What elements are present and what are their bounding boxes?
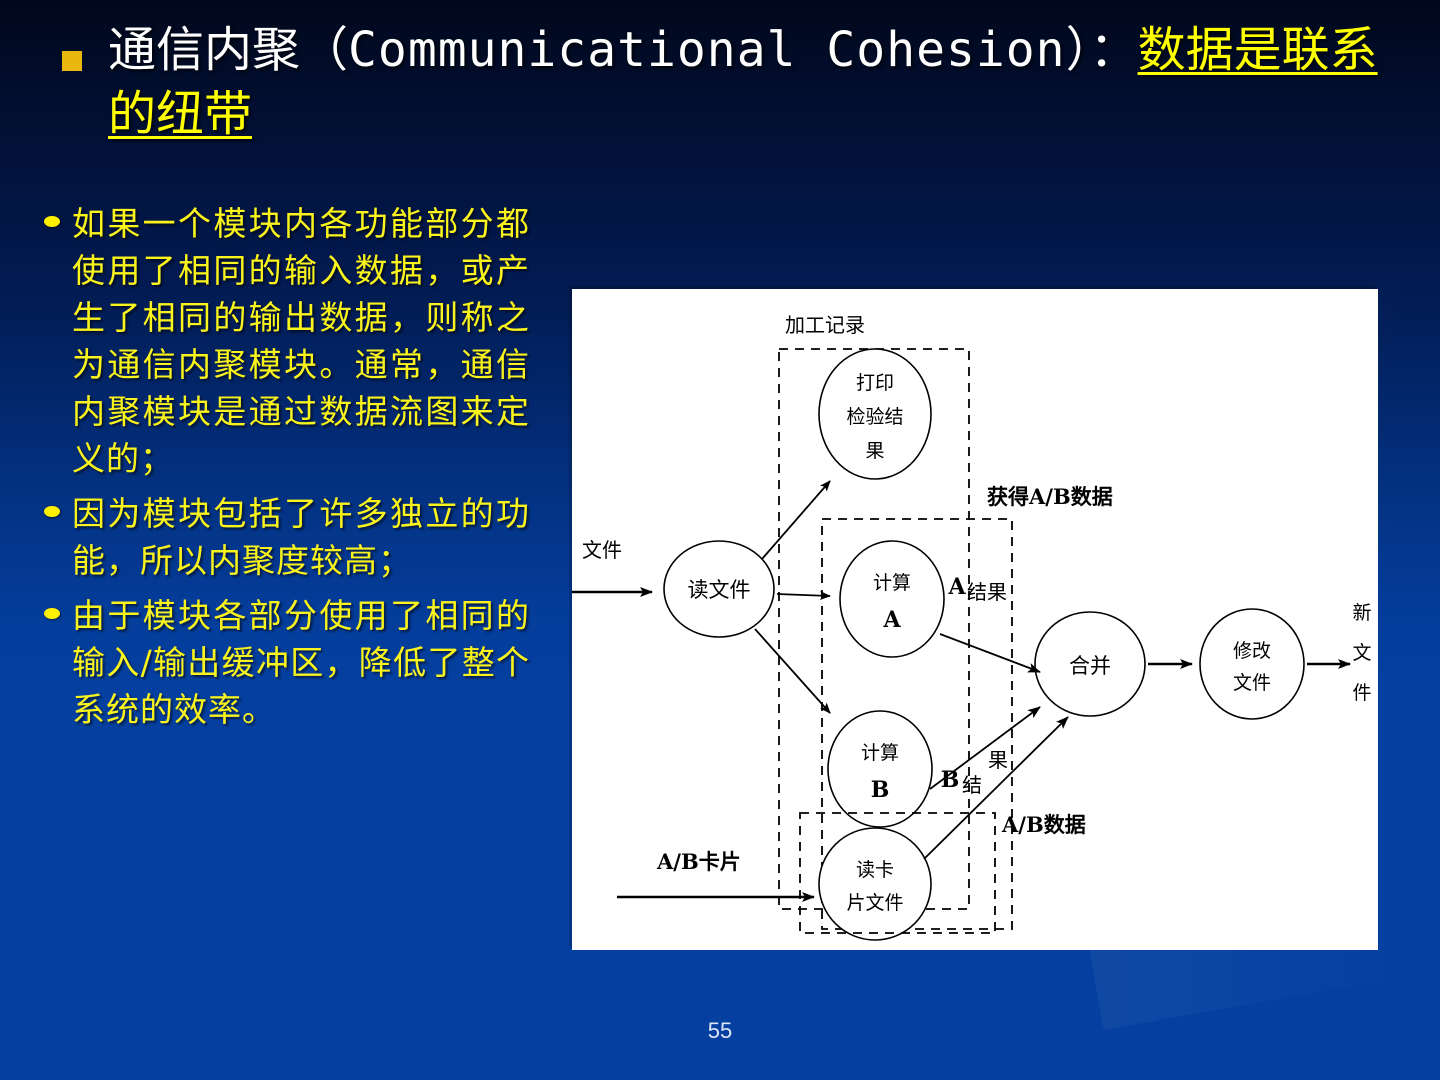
title-part-english: Communicational Cohesion (348, 22, 1066, 78)
bullet-text: 因为模块包括了许多独立的功能，所以内聚度较高； (72, 490, 530, 584)
bullet-dot-icon (44, 216, 60, 227)
page-number: 55 (0, 1018, 1440, 1044)
node-read-card-label: 读卡 (856, 859, 894, 881)
node-modify-file-label: 文件 (1233, 672, 1271, 694)
edge-label-a: A (947, 574, 966, 600)
title-part-1: 通信内聚（ (108, 22, 348, 78)
node-calc-a-label: 计算 (873, 572, 911, 594)
slide-title-block: 通信内聚（Communicational Cohesion）：数据是联系的纽带 (52, 18, 1392, 146)
bullet-text: 如果一个模块内各功能部分都使用了相同的输入数据，或产生了相同的输出数据，则称之为… (72, 200, 530, 482)
node-print-result-label: 果 (865, 440, 884, 462)
edge-label-out-file: 新 (1352, 602, 1371, 624)
edge-label-out-file: 文 (1352, 642, 1371, 664)
node-print-result-label: 检验结 (846, 406, 903, 428)
node-calc-a-label: A (882, 607, 901, 633)
edge-label-b-jie: 结 (962, 773, 982, 797)
bullet-text: 由于模块各部分使用了相同的输入/输出缓冲区，降低了整个系统的效率。 (72, 592, 530, 733)
edge-label-ab-data: A/B数据 (1001, 812, 1086, 837)
data-flow-diagram: 加工记录 获得A/B数据 文件 读文件 打印 检验结 果 计算 A (572, 289, 1378, 950)
bullet-dot-icon (44, 608, 60, 619)
node-calc-b-label: B (871, 777, 890, 803)
group-label-processing: 加工记录 (785, 313, 865, 337)
edge-label-in-cards: A/B卡片 (656, 849, 741, 874)
slide-canvas: 通信内聚（Communicational Cohesion）：数据是联系的纽带 … (0, 0, 1440, 1080)
edge-label-b: B (941, 767, 960, 793)
edge-readfile-to-calc-b (755, 629, 830, 713)
node-read-card-label: 片文件 (846, 892, 903, 914)
list-item: 由于模块各部分使用了相同的输入/输出缓冲区，降低了整个系统的效率。 (30, 592, 530, 733)
group-label-ab-data: 获得A/B数据 (987, 484, 1113, 509)
node-modify-file-label: 修改 (1233, 640, 1271, 662)
node-read-file-label: 读文件 (688, 578, 751, 602)
edge-readfile-to-print (762, 481, 830, 559)
node-modify-file (1200, 609, 1304, 719)
list-item: 因为模块包括了许多独立的功能，所以内聚度较高； (30, 490, 530, 584)
node-calc-b-label: 计算 (861, 742, 899, 764)
bullet-list: 如果一个模块内各功能部分都使用了相同的输入数据，或产生了相同的输出数据，则称之为… (30, 200, 530, 741)
title-bullet-square (62, 51, 82, 71)
node-read-card (819, 828, 931, 940)
edge-label-a-result: 结果 (967, 580, 1007, 604)
edge-calc-a-to-merge (940, 634, 1040, 672)
node-merge-label: 合并 (1069, 654, 1111, 678)
node-calc-a (840, 541, 944, 657)
edge-label-in-file: 文件 (582, 538, 622, 562)
node-calc-b (828, 711, 932, 827)
bullet-dot-icon (44, 506, 60, 517)
edge-label-b-guo: 果 (988, 748, 1008, 772)
page-title: 通信内聚（Communicational Cohesion）：数据是联系的纽带 (108, 18, 1392, 146)
edge-label-out-file: 件 (1352, 682, 1371, 704)
list-item: 如果一个模块内各功能部分都使用了相同的输入数据，或产生了相同的输出数据，则称之为… (30, 200, 530, 482)
title-part-3: ）： (1066, 22, 1138, 78)
node-print-result-label: 打印 (856, 372, 894, 394)
